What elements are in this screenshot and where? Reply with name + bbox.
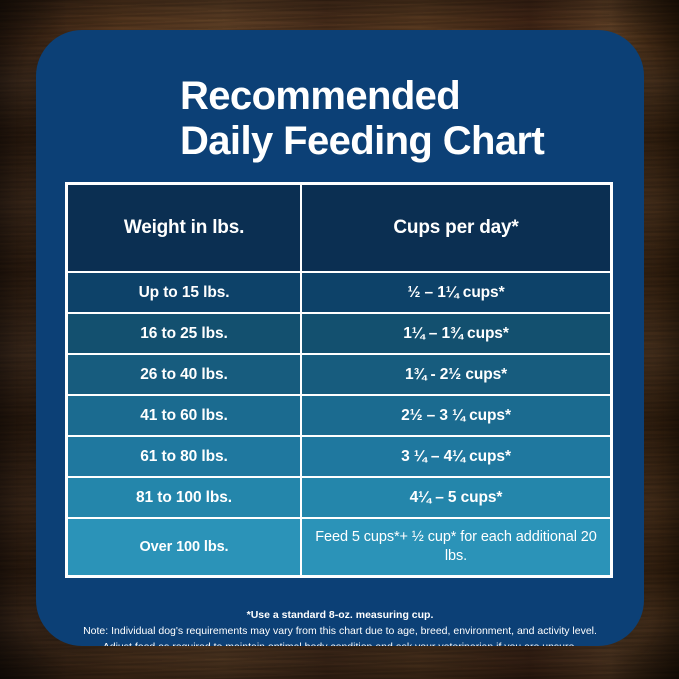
cell-weight: 81 to 100 lbs.: [67, 477, 301, 518]
cell-weight: Over 100 lbs.: [67, 518, 301, 576]
column-header-weight: Weight in lbs.: [67, 184, 301, 272]
cell-weight: Up to 15 lbs.: [67, 272, 301, 313]
title-line-2: Daily Feeding Chart: [76, 119, 604, 164]
cell-cups: Feed 5 cups*+ ½ cup* for each additional…: [301, 518, 611, 576]
footnote-measuring-cup: *Use a standard 8-oz. measuring cup.: [54, 608, 626, 624]
cell-weight: 16 to 25 lbs.: [67, 313, 301, 354]
footnote-adjust-food: Adjust food as required to maintain opti…: [54, 640, 626, 647]
table-row: 81 to 100 lbs. 4¼ – 5 cups*: [67, 477, 611, 518]
cell-cups: 1¾ - 2½ cups*: [301, 354, 611, 395]
footnote-individual-requirements: Note: Individual dog's requirements may …: [54, 624, 626, 640]
page-title: Recommended Daily Feeding Chart: [36, 74, 644, 164]
column-header-cups: Cups per day*: [301, 184, 611, 272]
cell-weight: 61 to 80 lbs.: [67, 436, 301, 477]
table-header-row: Weight in lbs. Cups per day*: [67, 184, 611, 272]
cell-cups: 4¼ – 5 cups*: [301, 477, 611, 518]
footnotes: *Use a standard 8-oz. measuring cup. Not…: [36, 608, 644, 646]
cell-cups: 3 ¼ – 4¼ cups*: [301, 436, 611, 477]
table-row: 41 to 60 lbs. 2½ – 3 ¼ cups*: [67, 395, 611, 436]
table-row: 16 to 25 lbs. 1¼ – 1¾ cups*: [67, 313, 611, 354]
table-row: 26 to 40 lbs. 1¾ - 2½ cups*: [67, 354, 611, 395]
table-row: Over 100 lbs. Feed 5 cups*+ ½ cup* for e…: [67, 518, 611, 576]
cell-weight: 41 to 60 lbs.: [67, 395, 301, 436]
title-line-1: Recommended: [76, 74, 604, 119]
cell-cups: ½ – 1¼ cups*: [301, 272, 611, 313]
cell-cups: 2½ – 3 ¼ cups*: [301, 395, 611, 436]
feeding-table-container: Weight in lbs. Cups per day* Up to 15 lb…: [65, 182, 613, 578]
feeding-table: Weight in lbs. Cups per day* Up to 15 lb…: [65, 182, 613, 578]
table-row: 61 to 80 lbs. 3 ¼ – 4¼ cups*: [67, 436, 611, 477]
feeding-chart-card: Recommended Daily Feeding Chart Weight i…: [36, 30, 644, 646]
cell-weight: 26 to 40 lbs.: [67, 354, 301, 395]
table-row: Up to 15 lbs. ½ – 1¼ cups*: [67, 272, 611, 313]
cell-cups: 1¼ – 1¾ cups*: [301, 313, 611, 354]
